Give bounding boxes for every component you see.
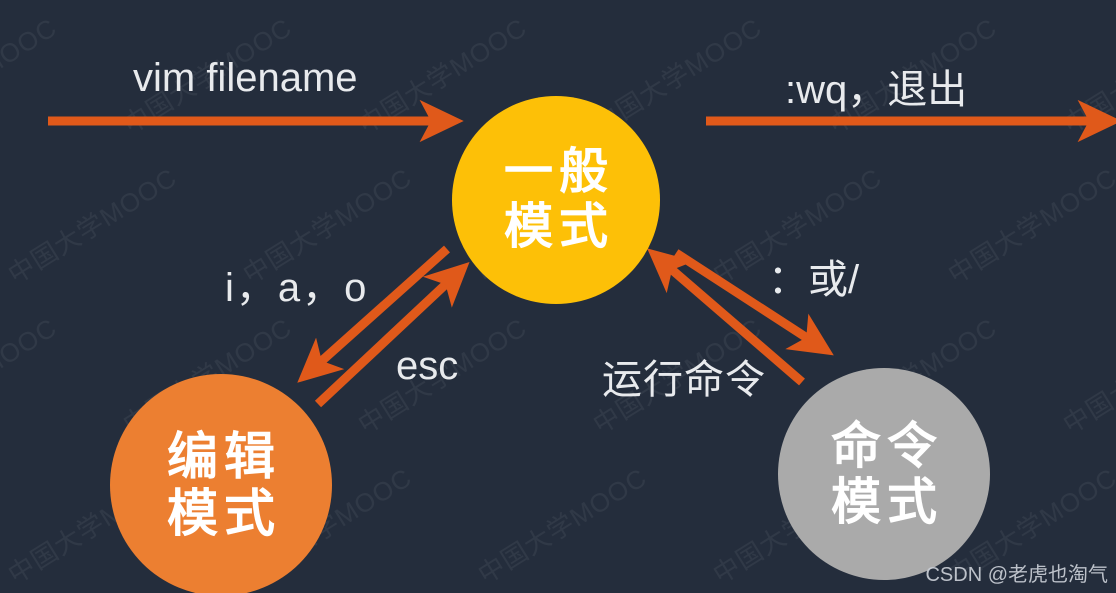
edge-label-quit: :wq，退出 (785, 57, 967, 115)
node-command-mode[interactable]: 命令 模式 (778, 368, 990, 580)
node-insert-mode-line2: 模式 (161, 485, 281, 542)
diagram-canvas: 中国大学MOOC中国大学MOOC中国大学MOOC中国大学MOOC中国大学MOOC… (0, 0, 1116, 593)
edge-label-escape: esc (396, 344, 458, 389)
credit-watermark: CSDN @老虎也淘气 (925, 558, 1108, 587)
node-command-mode-line1: 命令 (825, 418, 943, 474)
node-insert-mode-line1: 编辑 (161, 428, 281, 485)
edge-label-enter-command: ：或/ (768, 247, 859, 305)
node-insert-mode[interactable]: 编辑 模式 (110, 374, 332, 593)
node-normal-mode-line1: 一般 (498, 145, 614, 200)
node-normal-mode-line2: 模式 (498, 200, 614, 255)
node-normal-mode[interactable]: 一般 模式 (452, 96, 660, 304)
node-command-mode-line2: 模式 (825, 474, 943, 530)
edge-label-open-file: vim filename (133, 56, 358, 101)
edge-label-run-command: 运行命令 (602, 347, 766, 405)
edge-label-enter-insert: i，a，o (225, 255, 368, 313)
